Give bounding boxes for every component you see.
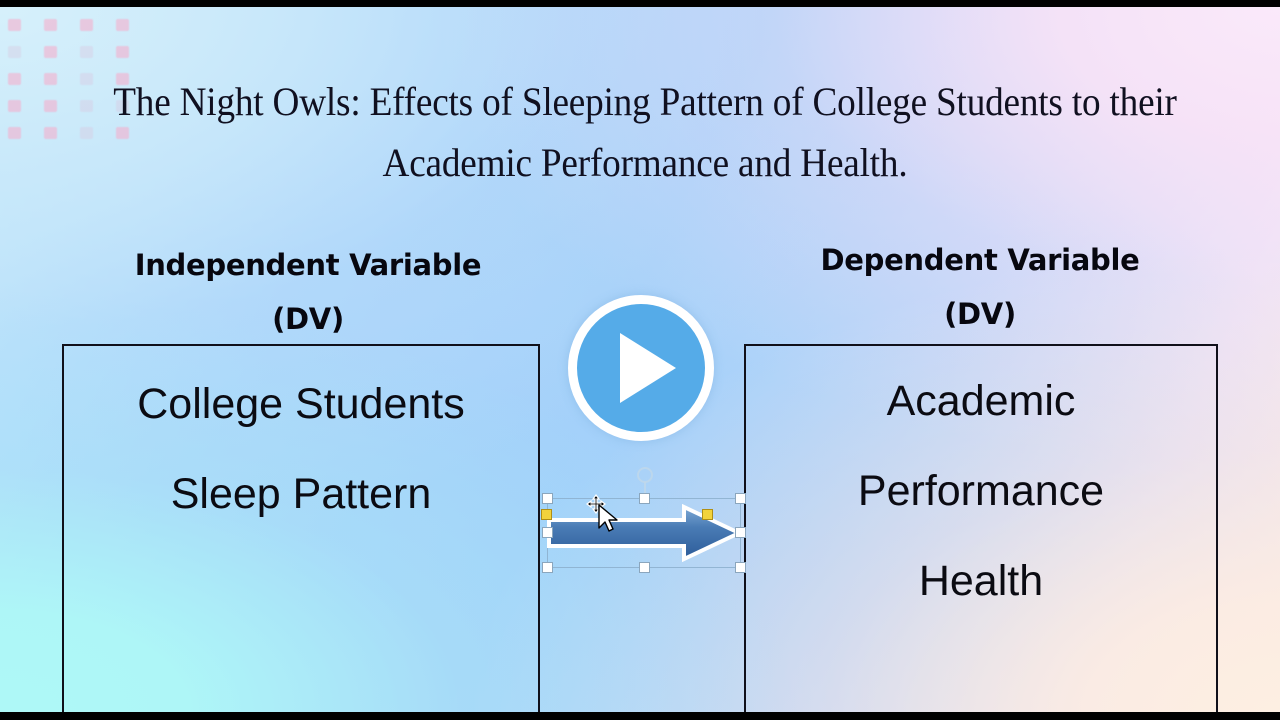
independent-variable-box[interactable]: College Students Sleep Pattern xyxy=(62,344,540,712)
dot xyxy=(8,100,21,112)
play-triangle-icon xyxy=(620,333,676,403)
slide-canvas: The Night Owls: Effects of Sleeping Patt… xyxy=(0,7,1280,712)
dependent-variable-header-line1: Dependent Variable xyxy=(820,243,1139,277)
dot xyxy=(80,73,93,85)
resize-handle-bottom-left[interactable] xyxy=(542,562,553,573)
letterbox-top xyxy=(0,0,1280,7)
box-line-academic: Academic xyxy=(746,346,1216,446)
dependent-variable-box[interactable]: Academic Performance Health xyxy=(744,344,1218,712)
box-line-performance: Performance xyxy=(746,446,1216,536)
resize-handle-top-left[interactable] xyxy=(542,493,553,504)
box-line-college-students: College Students xyxy=(64,346,538,449)
box-line-sleep-pattern: Sleep Pattern xyxy=(64,449,538,539)
dot xyxy=(116,19,129,31)
dot xyxy=(44,19,57,31)
dot xyxy=(44,100,57,112)
resize-handle-bottom-right[interactable] xyxy=(735,562,746,573)
rotate-handle-icon[interactable] xyxy=(637,467,653,483)
resize-handle-top-right[interactable] xyxy=(735,493,746,504)
dot xyxy=(8,46,21,58)
slide-title: The Night Owls: Effects of Sleeping Patt… xyxy=(110,71,1180,193)
dot xyxy=(80,127,93,139)
dot xyxy=(116,46,129,58)
dot xyxy=(80,100,93,112)
dot xyxy=(44,46,57,58)
box-line-health: Health xyxy=(746,536,1216,626)
resize-handle-bottom-center[interactable] xyxy=(639,562,650,573)
letterbox-bottom xyxy=(0,712,1280,720)
dot xyxy=(44,73,57,85)
resize-handle-middle-right[interactable] xyxy=(735,527,746,538)
resize-handle-top-center[interactable] xyxy=(639,493,650,504)
dot xyxy=(80,46,93,58)
dot xyxy=(8,19,21,31)
dot xyxy=(44,127,57,139)
dot xyxy=(8,73,21,85)
dot xyxy=(8,127,21,139)
dependent-variable-header-line2: (DV) xyxy=(745,287,1215,341)
resize-handle-middle-left[interactable] xyxy=(542,527,553,538)
dot xyxy=(80,19,93,31)
arrow-selection-group[interactable] xyxy=(543,494,745,572)
play-button[interactable] xyxy=(568,295,714,441)
slide-viewport: The Night Owls: Effects of Sleeping Patt… xyxy=(0,0,1280,720)
shape-adjust-handle-head[interactable] xyxy=(702,509,713,520)
independent-variable-header: Independent Variable (DV) xyxy=(63,238,553,346)
shape-adjust-handle-tail[interactable] xyxy=(541,509,552,520)
independent-variable-header-line1: Independent Variable xyxy=(135,248,482,282)
dependent-variable-header: Dependent Variable (DV) xyxy=(745,233,1215,341)
independent-variable-header-line2: (DV) xyxy=(63,292,553,346)
